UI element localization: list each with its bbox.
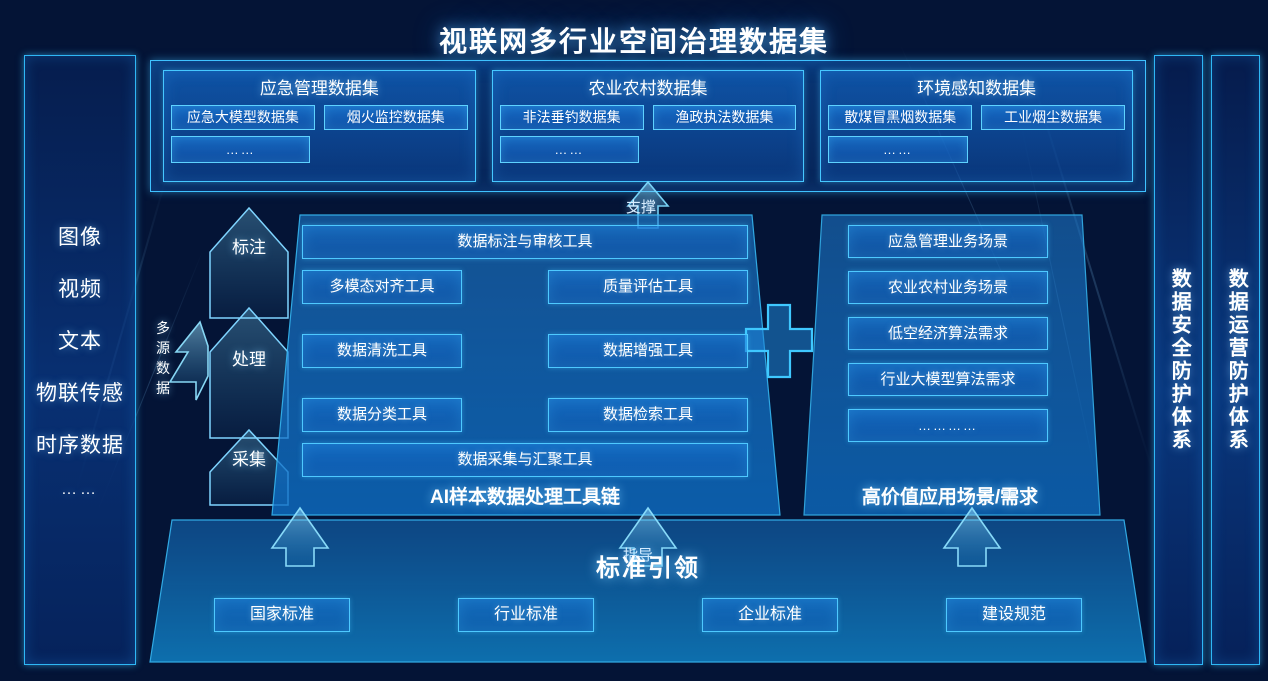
panel-data-operation-system-label: 数据运营防护体系 — [1224, 268, 1248, 452]
sidebar-item-more: …… — [61, 481, 99, 499]
sidebar-item-timeseries: 时序数据 — [36, 429, 124, 459]
dataset-item[interactable]: 工业烟尘数据集 — [981, 105, 1125, 130]
tool-data-augmentation[interactable]: 数据增强工具 — [548, 334, 748, 368]
dataset-group-emergency: 应急管理数据集 应急大模型数据集 烟火监控数据集 …… — [163, 70, 476, 182]
toolchain-boxes: 数据标注与审核工具 多模态对齐工具 质量评估工具 数据清洗工具 数据增强工具 数… — [302, 225, 748, 477]
dataset-group-environment: 环境感知数据集 散煤冒黑烟数据集 工业烟尘数据集 …… — [820, 70, 1133, 182]
scenes-panel: 应急管理业务场景 农业农村业务场景 低空经济算法需求 行业大模型算法需求 ………… — [800, 215, 1100, 515]
dataset-item[interactable]: 应急大模型数据集 — [171, 105, 315, 130]
dataset-group-title: 应急管理数据集 — [171, 76, 468, 102]
sidebar-item-iot: 物联传感 — [36, 377, 124, 407]
sidebar-item-video: 视频 — [58, 273, 102, 303]
toolchain-panel: 数据标注与审核工具 多模态对齐工具 质量评估工具 数据清洗工具 数据增强工具 数… — [270, 215, 780, 515]
scene-low-altitude-economy[interactable]: 低空经济算法需求 — [848, 317, 1048, 350]
dataset-item[interactable]: 散煤冒黑烟数据集 — [828, 105, 972, 130]
scenes-boxes: 应急管理业务场景 农业农村业务场景 低空经济算法需求 行业大模型算法需求 ………… — [848, 225, 1048, 455]
tool-data-cleaning[interactable]: 数据清洗工具 — [302, 334, 462, 368]
toolchain-title: AI样本数据处理工具链 — [270, 482, 780, 509]
dataset-group-title: 农业农村数据集 — [500, 76, 797, 102]
tool-collection-aggregation[interactable]: 数据采集与汇聚工具 — [302, 443, 748, 477]
page-title: 视联网多行业空间治理数据集 — [0, 20, 1268, 60]
panel-data-security-system: 数据安全防护体系 — [1154, 55, 1203, 665]
dataset-item[interactable]: 非法垂钓数据集 — [500, 105, 644, 130]
dataset-band: 应急管理数据集 应急大模型数据集 烟火监控数据集 …… 农业农村数据集 非法垂钓… — [150, 60, 1146, 192]
sidebar-item-text: 文本 — [58, 325, 102, 355]
standard-industry[interactable]: 行业标准 — [458, 598, 594, 632]
label-support: 支撑 — [626, 196, 656, 217]
sidebar-item-image: 图像 — [58, 221, 102, 251]
standard-enterprise[interactable]: 企业标准 — [702, 598, 838, 632]
tool-quality-assessment[interactable]: 质量评估工具 — [548, 270, 748, 304]
dataset-item-more[interactable]: …… — [171, 136, 310, 163]
tool-data-classification[interactable]: 数据分类工具 — [302, 398, 462, 432]
label-multi-source: 多源数据 — [150, 318, 176, 398]
dataset-item-more[interactable]: …… — [500, 136, 639, 163]
dataset-item[interactable]: 烟火监控数据集 — [324, 105, 468, 130]
panel-data-security-system-label: 数据安全防护体系 — [1167, 268, 1191, 452]
scene-more[interactable]: ………… — [848, 409, 1048, 442]
standards-panel: 标准引领 国家标准 行业标准 企业标准 建设规范 — [150, 520, 1146, 665]
standard-construction-spec[interactable]: 建设规范 — [946, 598, 1082, 632]
standard-national[interactable]: 国家标准 — [214, 598, 350, 632]
dataset-group-agriculture: 农业农村数据集 非法垂钓数据集 渔政执法数据集 …… — [492, 70, 805, 182]
tool-annotation-review[interactable]: 数据标注与审核工具 — [302, 225, 748, 259]
standards-row: 国家标准 行业标准 企业标准 建设规范 — [214, 598, 1082, 632]
scene-industry-large-model[interactable]: 行业大模型算法需求 — [848, 363, 1048, 396]
dataset-group-title: 环境感知数据集 — [828, 76, 1125, 102]
standards-title: 标准引领 — [150, 548, 1146, 583]
scene-agriculture-rural[interactable]: 农业农村业务场景 — [848, 271, 1048, 304]
scene-emergency-management[interactable]: 应急管理业务场景 — [848, 225, 1048, 258]
panel-data-operation-system: 数据运营防护体系 — [1211, 55, 1260, 665]
dataset-item-more[interactable]: …… — [828, 136, 967, 163]
data-source-sidebar: 图像 视频 文本 物联传感 时序数据 …… — [24, 55, 136, 665]
diagram-canvas: 视联网多行业空间治理数据集 图像 视频 文本 物联传感 时序数据 …… 数据安全… — [0, 0, 1268, 681]
tool-multimodal-align[interactable]: 多模态对齐工具 — [302, 270, 462, 304]
tool-data-retrieval[interactable]: 数据检索工具 — [548, 398, 748, 432]
scenes-title: 高价值应用场景/需求 — [800, 482, 1100, 509]
dataset-item[interactable]: 渔政执法数据集 — [653, 105, 797, 130]
